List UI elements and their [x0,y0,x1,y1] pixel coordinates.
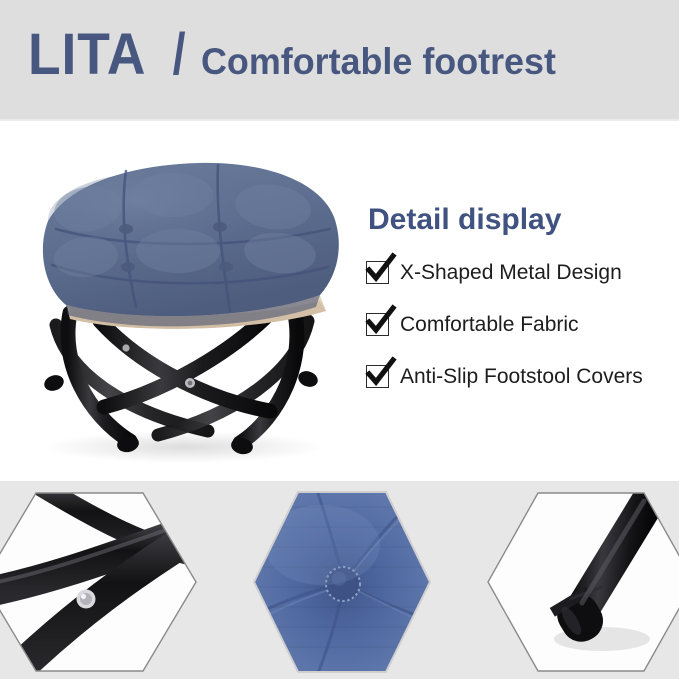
hexagon-frame [0,487,197,677]
list-item-label: X-Shaped Metal Design [400,261,622,284]
header-band: LITA / Comfortable footrest [0,0,679,121]
hexagon-frame [484,487,679,677]
footrest-illustration [8,125,360,473]
brand-name: LITA [28,26,146,84]
product-infographic: LITA / Comfortable footrest [0,0,679,679]
feature-list: X-Shaped Metal Design Comfortable Fabric [366,261,671,388]
product-image [8,125,360,473]
list-item-label: Anti-Slip Footstool Covers [400,365,643,388]
checkbox-checked-icon[interactable] [366,261,389,284]
checkbox-checked-icon[interactable] [366,365,389,388]
page-title: Detail display [368,205,671,235]
brand-separator-icon: / [172,26,185,84]
closeup-panel-leg-tip [484,487,679,677]
list-item: Anti-Slip Footstool Covers [366,365,671,388]
detail-display-panel: Detail display X-Shaped Metal Design [366,205,671,417]
main-section: Detail display X-Shaped Metal Design [0,121,679,481]
list-item: X-Shaped Metal Design [366,261,671,284]
header-title-group: LITA / Comfortable footrest [28,26,669,84]
closeup-gallery [0,481,679,679]
closeup-panel-x-frame [0,487,197,677]
hexagon-frame [252,487,432,677]
checkbox-checked-icon[interactable] [366,313,389,336]
header-subtitle: Comfortable footrest [201,43,556,80]
list-item: Comfortable Fabric [366,313,671,336]
list-item-label: Comfortable Fabric [400,313,579,336]
closeup-panel-fabric [252,487,432,677]
